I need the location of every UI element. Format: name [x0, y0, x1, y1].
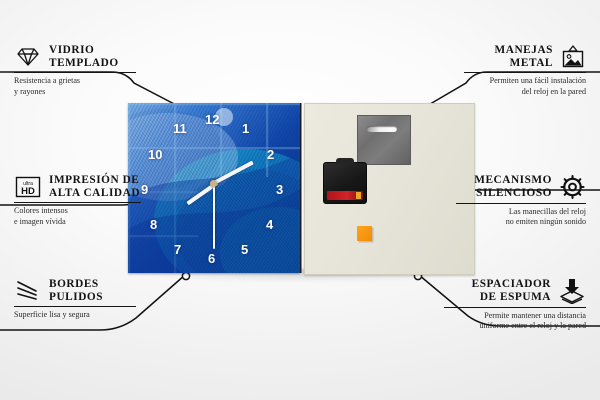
feature-title-line2: TEMPLADO: [49, 57, 119, 70]
feature-subtitle-line2: e imagen vívida: [14, 217, 141, 227]
arrow-onto-foam-icon: [558, 278, 586, 304]
feature-subtitle-line1: Resistencia a grietas: [14, 76, 136, 86]
clock-numeral: 11: [173, 122, 187, 135]
feature-impresion-alta-calidad: ultra HD IMPRESIÓN DE ALTA CALIDAD Color…: [14, 174, 141, 227]
feature-bordes-pulidos: BORDES PULIDOS Superficie lisa y segura: [14, 278, 136, 321]
clock-numeral: 7: [174, 243, 181, 256]
feature-title-line1: VIDRIO: [49, 44, 119, 57]
gear-icon: [559, 174, 586, 200]
feature-espaciador-espuma: ESPACIADOR DE ESPUMA Permite mantener un…: [444, 278, 586, 331]
feature-title-line1: ESPACIADOR: [472, 278, 551, 291]
foam-spacer: [357, 226, 372, 241]
feature-manejas-metal: MANEJAS METAL Permiten una fácil instala…: [464, 44, 586, 97]
feature-title-line2: SILENCIOSO: [474, 187, 552, 200]
feature-title-line1: IMPRESIÓN DE: [49, 174, 140, 187]
clock-numeral: 9: [141, 183, 148, 196]
feature-mecanismo-silencioso: MECANISMO SILENCIOSO Las manecillas del …: [456, 174, 586, 227]
clock-second-hand: [213, 183, 215, 249]
battery-tip: [356, 192, 361, 199]
quartz-mechanism-box: [323, 162, 367, 204]
diagonal-lines-icon: [14, 280, 42, 302]
feature-vidrio-templado: VIDRIO TEMPLADO Resistencia a grietas y …: [14, 44, 136, 97]
clock-numeral: 6: [208, 252, 215, 265]
svg-text:HD: HD: [21, 186, 35, 197]
clock-front-face: 12 1 2 3 4 5 6 7 8 9 10 11: [128, 103, 300, 273]
feature-title-line2: METAL: [495, 57, 553, 70]
clock-numeral: 5: [241, 243, 248, 256]
feature-divider: [464, 72, 586, 73]
clock-numeral: 1: [242, 122, 249, 135]
hanger-keyhole-slot: [367, 126, 397, 132]
battery: [327, 191, 363, 200]
mechanism-tab: [336, 158, 354, 164]
feature-divider: [14, 202, 141, 203]
ultra-hd-icon: ultra HD: [14, 175, 42, 199]
feature-subtitle-line2: no emiten ningún sonido: [456, 217, 586, 227]
feature-title-line1: MECANISMO: [474, 174, 552, 187]
picture-hanger-icon: [560, 45, 586, 69]
clock-back-panel: [304, 103, 475, 275]
feature-subtitle-line1: Superficie lisa y segura: [14, 310, 136, 320]
feature-subtitle-line2: del reloj en la pared: [464, 87, 586, 97]
feature-title-line2: ALTA CALIDAD: [49, 187, 140, 200]
feature-subtitle-line1: Las manecillas del reloj: [456, 207, 586, 217]
clock-numeral: 10: [148, 148, 162, 161]
clock-numeral: 4: [266, 218, 273, 231]
feature-divider: [444, 307, 586, 308]
feature-title-line2: PULIDOS: [49, 291, 103, 304]
clock-center-cap: [210, 180, 217, 187]
clock-numeral: 2: [267, 148, 274, 161]
feature-title-line2: DE ESPUMA: [472, 291, 551, 304]
product-image: 12 1 2 3 4 5 6 7 8 9 10 11: [128, 103, 473, 273]
feature-title-line1: BORDES: [49, 278, 103, 291]
feature-title-line1: MANEJAS: [495, 44, 553, 57]
feature-divider: [456, 203, 586, 204]
feature-subtitle-line1: Colores intensos: [14, 206, 141, 216]
clock-numeral: 3: [276, 183, 283, 196]
clock-numeral: 12: [205, 113, 219, 126]
feature-divider: [14, 72, 136, 73]
clock-numeral: 8: [150, 218, 157, 231]
metal-hanger-plate: [357, 115, 411, 165]
diamond-icon: [14, 46, 42, 68]
feature-divider: [14, 306, 136, 307]
feature-subtitle-line1: Permiten una fácil instalación: [464, 76, 586, 86]
feature-subtitle-line1: Permite mantener una distancia: [444, 311, 586, 321]
infographic-canvas: 12 1 2 3 4 5 6 7 8 9 10 11: [0, 0, 600, 400]
feature-subtitle-line2: uniforme entre el reloj y la pared: [444, 321, 586, 331]
feature-subtitle-line2: y rayones: [14, 87, 136, 97]
